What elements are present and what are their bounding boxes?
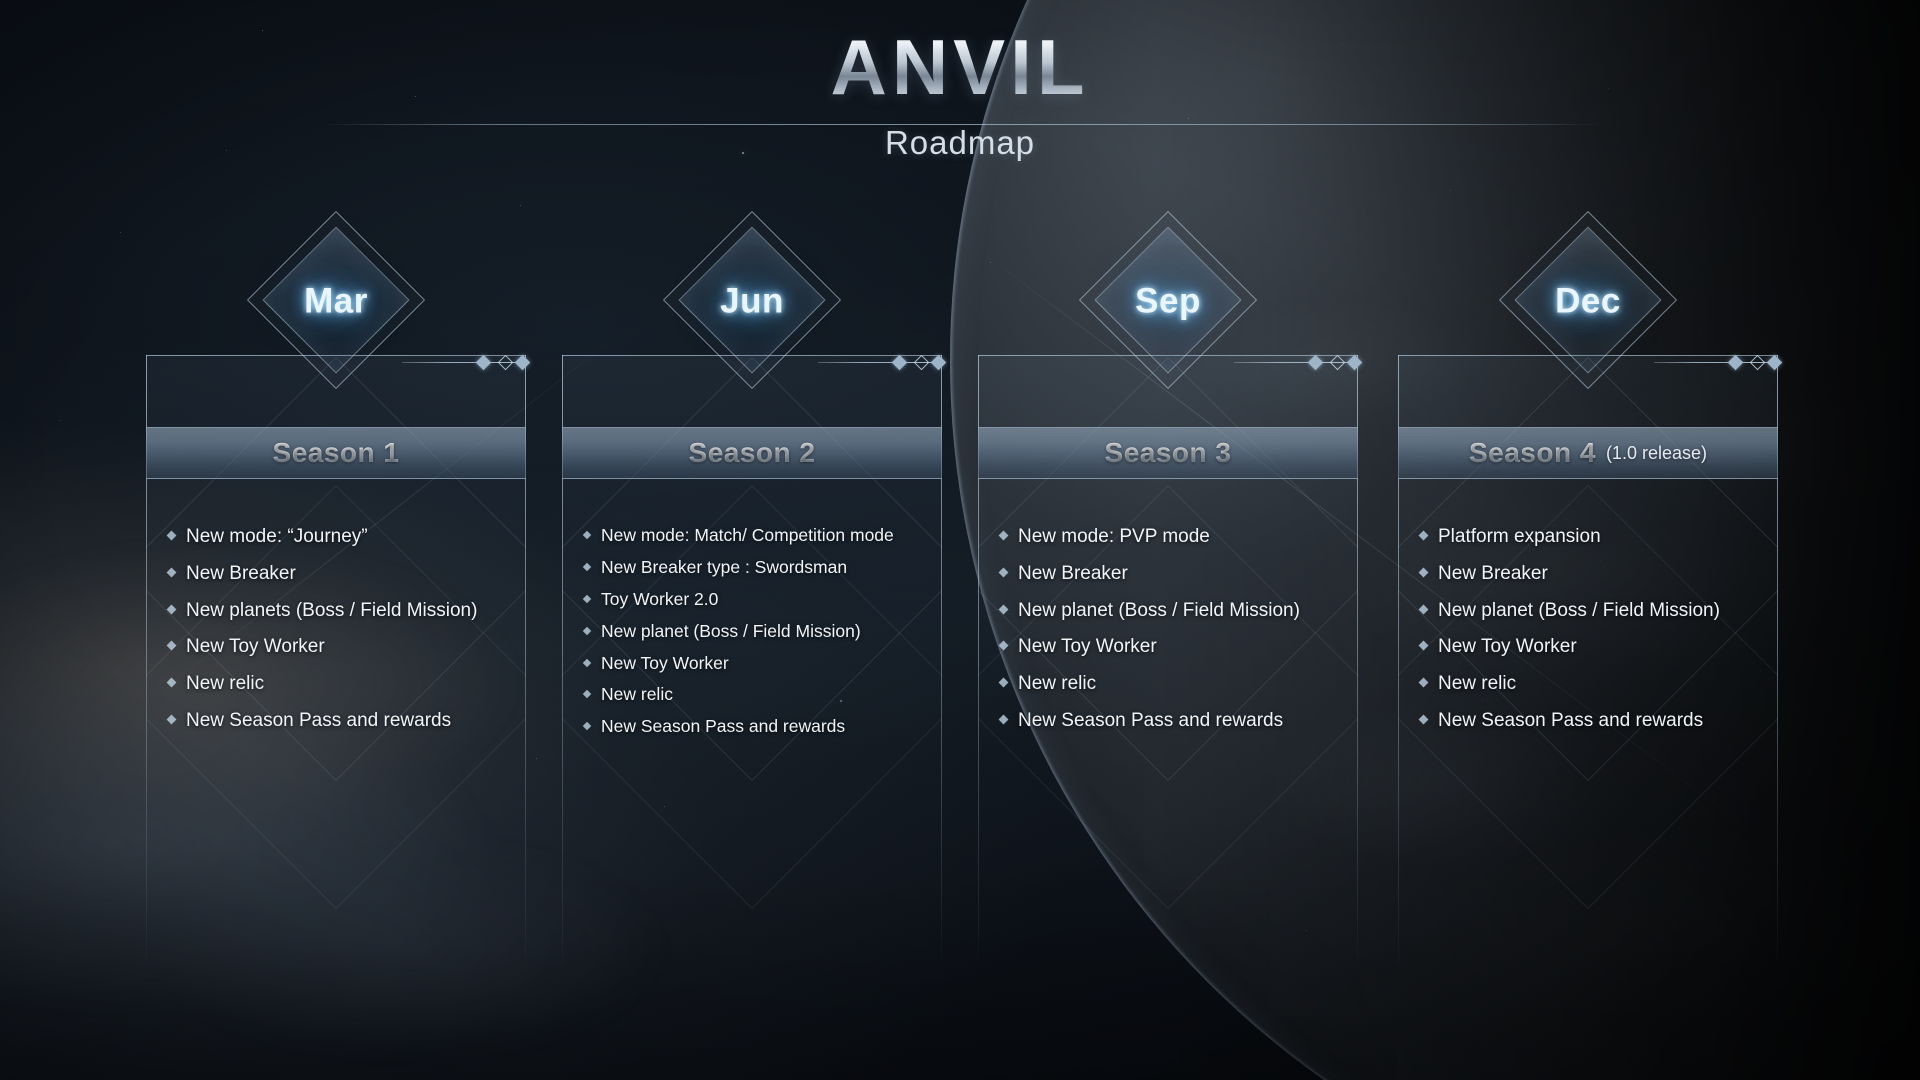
list-item: New Breaker: [1000, 562, 1348, 586]
feature-list: New mode: Match/ Competition modeNew Bre…: [584, 525, 932, 748]
list-item-label: New Toy Worker: [186, 635, 325, 659]
list-item: Toy Worker 2.0: [584, 589, 932, 611]
diamond-bullet-icon: [583, 563, 591, 571]
diamond-bullet-icon: [167, 531, 177, 541]
diamond-bullet-icon: [1419, 678, 1429, 688]
season-release-note: (1.0 release): [1606, 443, 1707, 464]
month-label: Mar: [236, 282, 436, 322]
list-item-label: New relic: [601, 684, 673, 706]
timeline-connector: [818, 354, 944, 372]
diamond-bullet-icon: [583, 595, 591, 603]
page-subtitle: Roadmap: [0, 124, 1920, 162]
season-banner[interactable]: Season 2: [562, 427, 942, 479]
timeline-connector: [1234, 354, 1360, 372]
diamond-bullet-icon: [167, 641, 177, 651]
list-item: New planet (Boss / Field Mission): [1000, 599, 1348, 623]
list-item: New relic: [1420, 672, 1768, 696]
list-item-label: New relic: [1438, 672, 1516, 696]
diamond-bullet-icon: [583, 722, 591, 730]
diamond-bullet-icon: [583, 531, 591, 539]
connector-diamond-hollow: [1750, 355, 1766, 371]
list-item-label: New planets (Boss / Field Mission): [186, 599, 477, 623]
list-item: New Breaker: [168, 562, 516, 586]
diamond-bullet-icon: [167, 567, 177, 577]
diamond-bullet-icon: [1419, 567, 1429, 577]
diamond-bullet-icon: [999, 714, 1009, 724]
page-title: ANVIL: [0, 28, 1920, 106]
season-title: Season 3: [1105, 437, 1232, 469]
list-item: New planet (Boss / Field Mission): [584, 621, 932, 643]
season-banner[interactable]: Season 3: [978, 427, 1358, 479]
list-item: New Season Pass and rewards: [1000, 709, 1348, 733]
connector-diamond-hollow: [498, 355, 514, 371]
connector-diamond-hollow: [914, 355, 930, 371]
list-item: New Breaker type : Swordsman: [584, 557, 932, 579]
list-item-label: New Season Pass and rewards: [601, 716, 845, 738]
diamond-bullet-icon: [999, 641, 1009, 651]
diamond-bullet-icon: [167, 604, 177, 614]
list-item: New Breaker: [1420, 562, 1768, 586]
list-item: New relic: [168, 672, 516, 696]
diamond-bullet-icon: [1419, 714, 1429, 724]
diamond-bullet-icon: [999, 604, 1009, 614]
season-card[interactable]: Season 4(1.0 release)Platform expansionN…: [1398, 355, 1778, 970]
list-item-label: New Season Pass and rewards: [186, 709, 451, 733]
season-banner[interactable]: Season 4(1.0 release): [1398, 427, 1778, 479]
list-item: Platform expansion: [1420, 525, 1768, 549]
diamond-bullet-icon: [583, 658, 591, 666]
list-item-label: New Season Pass and rewards: [1018, 709, 1283, 733]
season-card[interactable]: Season 1New mode: “Journey”New BreakerNe…: [146, 355, 526, 970]
list-item: New Toy Worker: [168, 635, 516, 659]
connector-diamond-end: [1347, 355, 1363, 371]
connector-diamond-hollow: [1330, 355, 1346, 371]
season-banner[interactable]: Season 1: [146, 427, 526, 479]
list-item: New relic: [1000, 672, 1348, 696]
diamond-bullet-icon: [167, 714, 177, 724]
season-title: Season 1: [273, 437, 400, 469]
month-label: Sep: [1068, 282, 1268, 322]
list-item-label: New relic: [186, 672, 264, 696]
season-title: Season 4: [1469, 437, 1596, 469]
list-item-label: New mode: “Journey”: [186, 525, 368, 549]
connector-diamond-filled: [1728, 355, 1744, 371]
list-item-label: New Season Pass and rewards: [1438, 709, 1703, 733]
season-title: Season 2: [689, 437, 816, 469]
list-item: New mode: “Journey”: [168, 525, 516, 549]
timeline-connector: [402, 354, 528, 372]
diamond-bullet-icon: [999, 567, 1009, 577]
connector-diamond-filled: [1308, 355, 1324, 371]
page-header: ANVIL Roadmap: [0, 0, 1920, 190]
list-item: New planets (Boss / Field Mission): [168, 599, 516, 623]
diamond-bullet-icon: [999, 678, 1009, 688]
list-item: New planet (Boss / Field Mission): [1420, 599, 1768, 623]
season-card[interactable]: Season 3New mode: PVP modeNew BreakerNew…: [978, 355, 1358, 970]
connector-diamond-filled: [476, 355, 492, 371]
list-item: New Season Pass and rewards: [1420, 709, 1768, 733]
list-item: New mode: PVP mode: [1000, 525, 1348, 549]
list-item: New Season Pass and rewards: [168, 709, 516, 733]
feature-list: Platform expansionNew BreakerNew planet …: [1420, 525, 1768, 746]
list-item-label: New mode: Match/ Competition mode: [601, 525, 894, 547]
list-item: New Toy Worker: [584, 653, 932, 675]
list-item: New relic: [584, 684, 932, 706]
list-item: New mode: Match/ Competition mode: [584, 525, 932, 547]
list-item: New Season Pass and rewards: [584, 716, 932, 738]
list-item-label: New Breaker: [186, 562, 296, 586]
list-item: New Toy Worker: [1000, 635, 1348, 659]
list-item-label: New Breaker: [1438, 562, 1548, 586]
list-item: New Toy Worker: [1420, 635, 1768, 659]
diamond-bullet-icon: [1419, 641, 1429, 651]
list-item-label: Toy Worker 2.0: [601, 589, 718, 611]
list-item-label: New Toy Worker: [1438, 635, 1577, 659]
diamond-bullet-icon: [1419, 531, 1429, 541]
connector-diamond-end: [931, 355, 947, 371]
list-item-label: New Toy Worker: [1018, 635, 1157, 659]
feature-list: New mode: PVP modeNew BreakerNew planet …: [1000, 525, 1348, 746]
list-item-label: New relic: [1018, 672, 1096, 696]
month-label: Jun: [652, 282, 852, 322]
list-item-label: New planet (Boss / Field Mission): [1438, 599, 1720, 623]
diamond-bullet-icon: [999, 531, 1009, 541]
connector-diamond-filled: [892, 355, 908, 371]
list-item-label: New Breaker: [1018, 562, 1128, 586]
season-card[interactable]: Season 2New mode: Match/ Competition mod…: [562, 355, 942, 970]
month-label: Dec: [1488, 282, 1688, 322]
list-item-label: New Toy Worker: [601, 653, 729, 675]
timeline-connector: [1654, 354, 1780, 372]
list-item-label: Platform expansion: [1438, 525, 1601, 549]
list-item-label: New Breaker type : Swordsman: [601, 557, 847, 579]
connector-diamond-end: [1767, 355, 1783, 371]
diamond-bullet-icon: [1419, 604, 1429, 614]
list-item-label: New planet (Boss / Field Mission): [601, 621, 861, 643]
connector-diamond-end: [515, 355, 531, 371]
feature-list: New mode: “Journey”New BreakerNew planet…: [168, 525, 516, 746]
diamond-bullet-icon: [583, 690, 591, 698]
list-item-label: New planet (Boss / Field Mission): [1018, 599, 1300, 623]
diamond-bullet-icon: [167, 678, 177, 688]
diamond-bullet-icon: [583, 626, 591, 634]
list-item-label: New mode: PVP mode: [1018, 525, 1210, 549]
